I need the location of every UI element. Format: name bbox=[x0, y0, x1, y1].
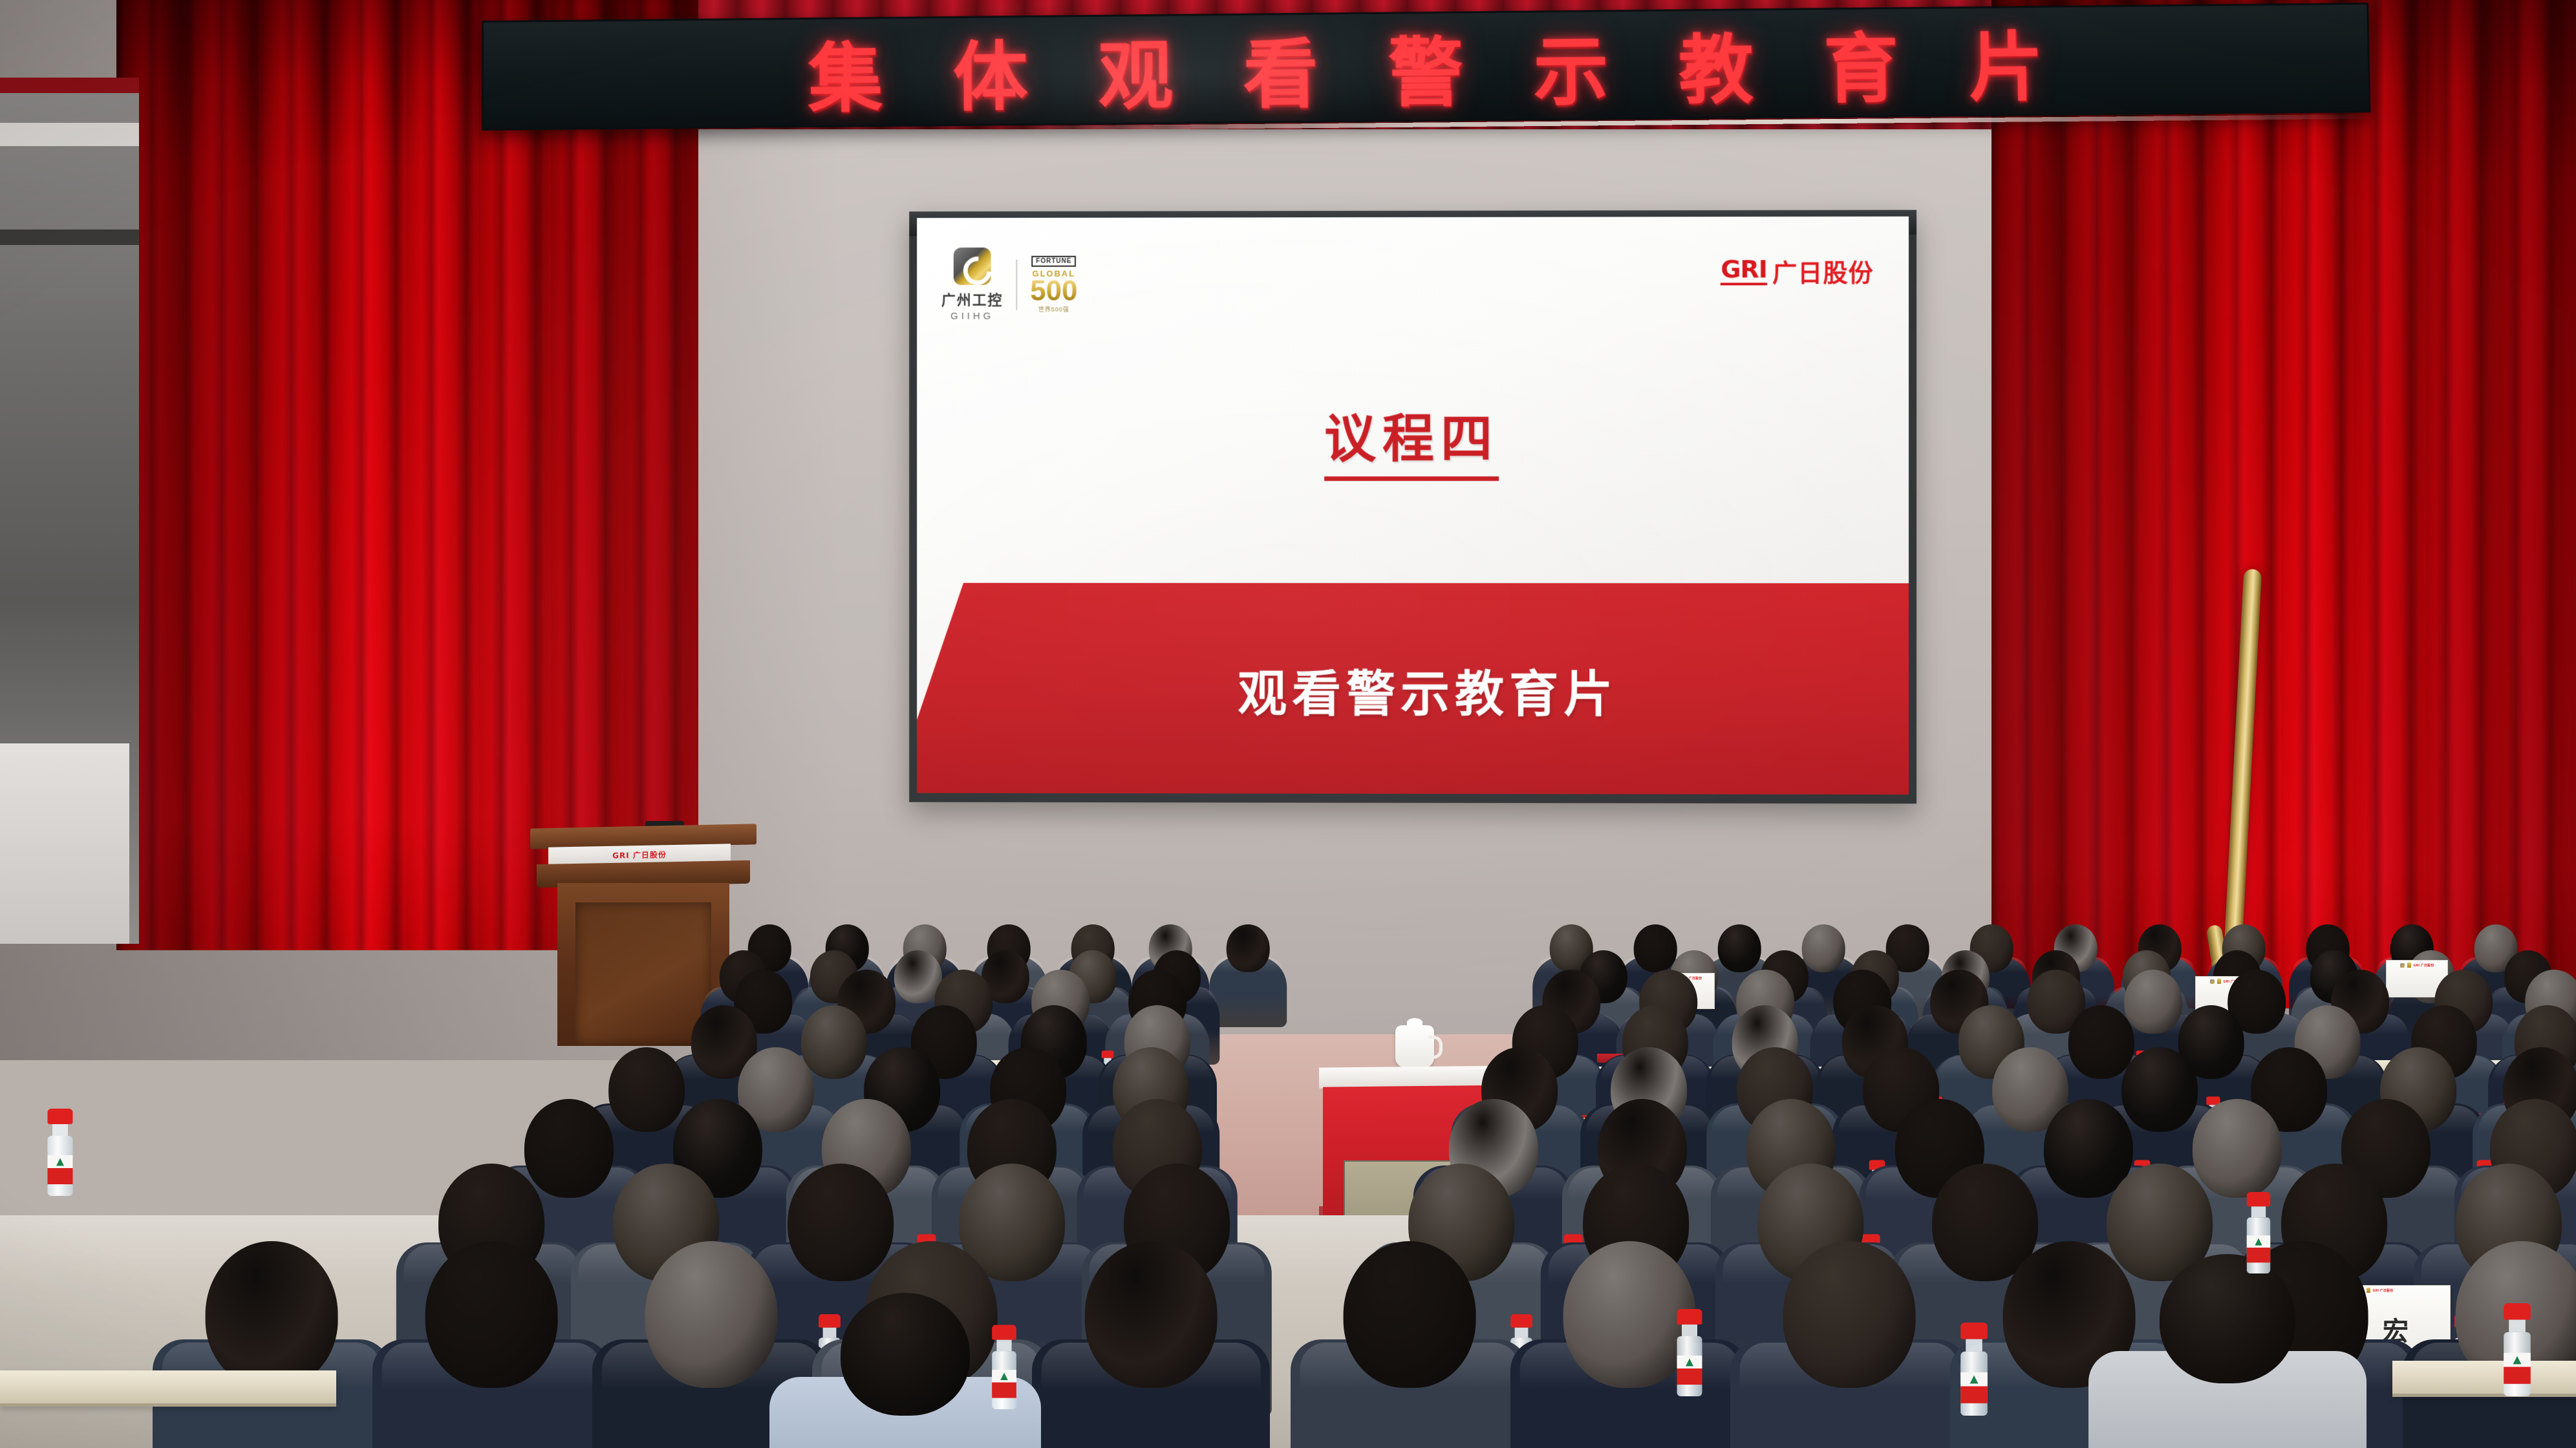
water-bottle bbox=[1677, 1309, 1702, 1396]
person-head bbox=[206, 1241, 338, 1388]
slide-logo-group-right: GRI 广日股份 bbox=[1721, 253, 1874, 288]
nameplate-logos: GRI 广日股份 bbox=[2387, 963, 2447, 968]
bottle-body bbox=[2504, 1332, 2531, 1396]
fortune-sub-cn: 世界500强 bbox=[1038, 304, 1069, 313]
bottle-body bbox=[992, 1351, 1016, 1409]
led-banner: 集 体 观 看 警 示 教 育 片 bbox=[482, 3, 2371, 131]
slide-logo-group-left: 广州工控 GIIHG FORTUNE GLOBAL 500 世界500强 bbox=[941, 248, 1078, 322]
audience-person bbox=[372, 1241, 610, 1448]
gri-mark: GRI bbox=[1721, 257, 1767, 285]
person-head bbox=[1783, 1241, 1916, 1388]
bottle-neck bbox=[2251, 1206, 2266, 1217]
podium-placard-text: GRI 广日股份 bbox=[612, 849, 667, 861]
slide-heading-text: 议程四 bbox=[1324, 409, 1499, 481]
person-head bbox=[1344, 1241, 1476, 1388]
slide-band-title: 观看警示教育片 bbox=[1199, 654, 1618, 726]
bottle-body bbox=[48, 1136, 73, 1196]
bottle-label bbox=[2247, 1235, 2270, 1262]
logo-divider bbox=[1016, 259, 1017, 310]
person-head bbox=[645, 1241, 778, 1388]
teapot-icon bbox=[1395, 1025, 1434, 1068]
bottle-label bbox=[992, 1370, 1016, 1398]
water-bottle bbox=[1960, 1323, 1988, 1416]
giihg-logo-icon bbox=[2400, 963, 2405, 968]
bottle-neck bbox=[2509, 1320, 2526, 1332]
person-head bbox=[1227, 924, 1270, 972]
fortune-500-badge: FORTUNE GLOBAL 500 世界500强 bbox=[1030, 256, 1077, 313]
bottle-neck bbox=[1966, 1339, 1982, 1352]
person-head bbox=[841, 1293, 970, 1416]
left-red-trim bbox=[0, 78, 139, 93]
bottle-neck bbox=[1682, 1325, 1697, 1336]
water-bottle bbox=[2247, 1192, 2270, 1273]
projection-screen: 广州工控 GIIHG FORTUNE GLOBAL 500 世界500强 GRI… bbox=[909, 210, 1916, 804]
presentation-slide: 广州工控 GIIHG FORTUNE GLOBAL 500 世界500强 GRI… bbox=[917, 217, 1909, 794]
bottle-cap bbox=[1677, 1309, 1702, 1325]
audience-person bbox=[1209, 924, 1287, 1025]
bottle-neck bbox=[996, 1340, 1011, 1351]
audience-person bbox=[153, 1241, 391, 1448]
audience-person bbox=[1032, 1241, 1270, 1448]
bottle-cap bbox=[2247, 1192, 2270, 1206]
water-bottle bbox=[48, 1109, 73, 1196]
left-white-cabinet bbox=[0, 743, 129, 944]
bottle-body bbox=[2247, 1217, 2270, 1273]
person-head bbox=[1563, 1241, 1696, 1388]
person-head bbox=[425, 1241, 558, 1388]
giihg-name-en: GIIHG bbox=[950, 311, 994, 322]
audience-person-light-jacket bbox=[2088, 1254, 2367, 1448]
giihg-name-cn: 广州工控 bbox=[941, 289, 1004, 310]
stage-curtain-left bbox=[116, 0, 698, 950]
bottle-body bbox=[1677, 1336, 1702, 1396]
stage-curtain-right bbox=[1991, 0, 2576, 1008]
water-bottle bbox=[992, 1325, 1016, 1410]
bottle-label bbox=[2504, 1353, 2531, 1384]
bottle-body bbox=[1960, 1352, 1988, 1416]
gri-logo-icon: GRI 广日股份 bbox=[2414, 963, 2434, 968]
fortune-number: 500 bbox=[1030, 279, 1077, 304]
bottle-label bbox=[1677, 1356, 1702, 1385]
bottle-neck bbox=[52, 1124, 68, 1136]
g-monogram-icon bbox=[954, 248, 991, 285]
fortune-500-badge-icon bbox=[2407, 963, 2411, 968]
person-head bbox=[1085, 1241, 1218, 1388]
bottle-cap bbox=[992, 1325, 1016, 1340]
audience-desk bbox=[0, 1370, 336, 1407]
slide-heading: 议程四 bbox=[917, 397, 1909, 473]
led-banner-text: 集 体 观 看 警 示 教 育 片 bbox=[786, 6, 2066, 127]
gri-name-cn: 广日股份 bbox=[1772, 253, 1874, 288]
water-bottle bbox=[2504, 1303, 2531, 1396]
audience-desk bbox=[2392, 1361, 2576, 1397]
audience-person bbox=[1510, 1241, 1748, 1448]
audience-person bbox=[1291, 1241, 1529, 1448]
person-head bbox=[2160, 1254, 2295, 1383]
bottle-label bbox=[1960, 1372, 1988, 1403]
bottle-label bbox=[48, 1155, 73, 1184]
bottle-cap bbox=[2504, 1303, 2531, 1320]
fortune-tag: FORTUNE bbox=[1031, 256, 1076, 267]
conference-hall-photo: 集 体 观 看 警 示 教 育 片 广州工控 GIIHG FORTUNE GLO… bbox=[0, 0, 2576, 1448]
bottle-cap bbox=[1960, 1323, 1988, 1339]
slide-title-band: 观看警示教育片 bbox=[917, 583, 1909, 795]
giihg-logo: 广州工控 GIIHG bbox=[941, 248, 1004, 322]
audience-person bbox=[2403, 1241, 2576, 1448]
audience-person bbox=[1730, 1241, 1968, 1448]
bottle-cap bbox=[48, 1109, 73, 1124]
